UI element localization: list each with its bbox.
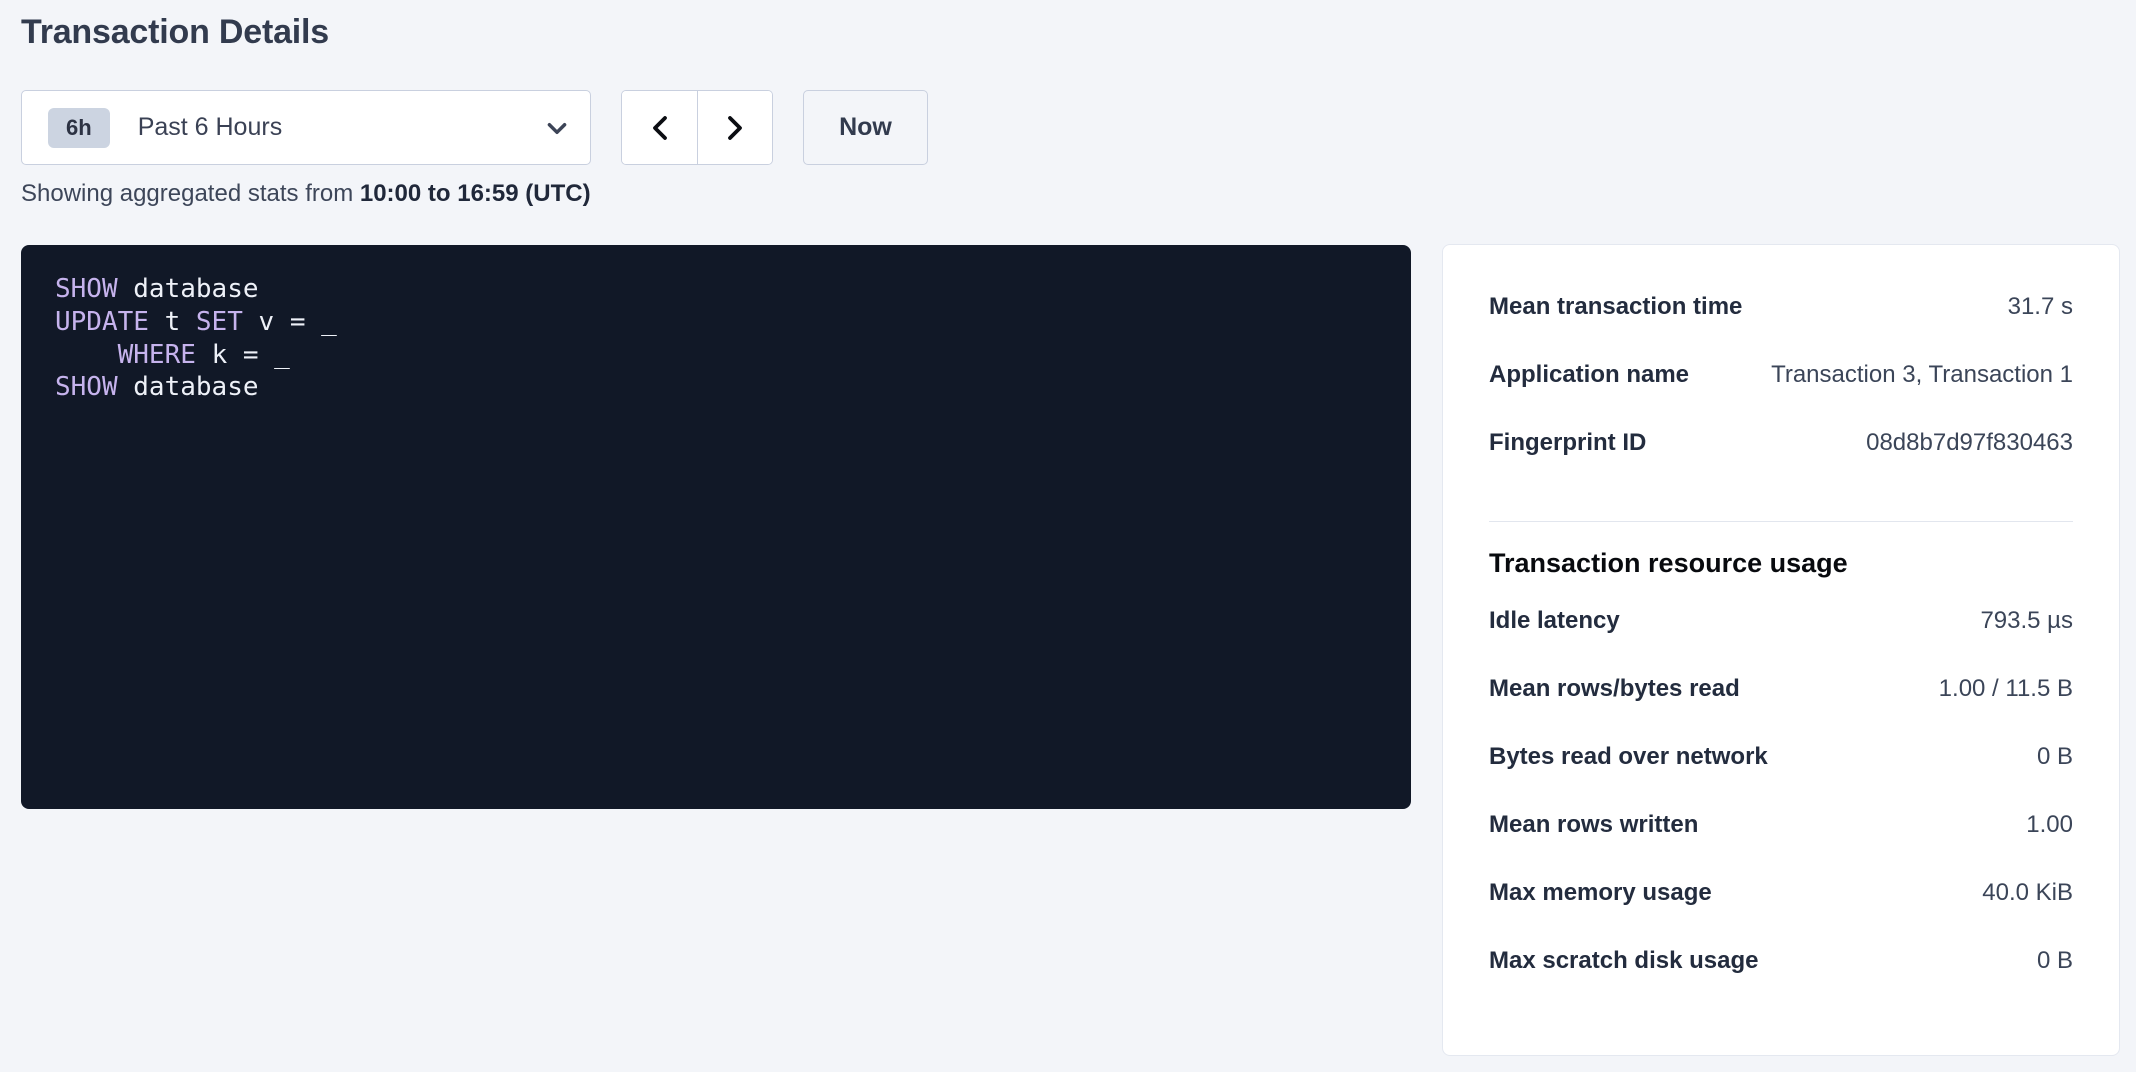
time-range-label: Past 6 Hours	[138, 113, 544, 142]
stat-row: Idle latency793.5 µs	[1489, 607, 2073, 675]
stat-label: Bytes read over network	[1489, 743, 1768, 771]
stat-row: Mean rows/bytes read1.00 / 11.5 B	[1489, 675, 2073, 743]
sql-token	[118, 372, 134, 402]
stat-value: 40.0 KiB	[1982, 879, 2073, 907]
stat-label: Application name	[1489, 361, 1689, 389]
sql-token	[149, 307, 165, 337]
sql-token	[55, 340, 118, 370]
stat-value: 793.5 µs	[1980, 607, 2073, 635]
stat-label: Idle latency	[1489, 607, 1620, 635]
time-nav-group	[621, 90, 773, 165]
sql-token	[118, 274, 134, 304]
sql-token: = _	[227, 340, 290, 370]
stat-value: 1.00	[2026, 811, 2073, 839]
time-range-toolbar: 6h Past 6 Hours	[21, 90, 928, 165]
stat-row: Application nameTransaction 3, Transacti…	[1489, 361, 2073, 429]
sql-token: SHOW	[55, 274, 118, 304]
resource-stats-list: Idle latency793.5 µsMean rows/bytes read…	[1489, 607, 2073, 1015]
now-button[interactable]: Now	[803, 90, 928, 165]
sql-token: SHOW	[55, 372, 118, 402]
chevron-down-icon	[544, 115, 570, 141]
stat-row: Fingerprint ID08d8b7d97f830463	[1489, 429, 2073, 497]
stat-row: Max scratch disk usage0 B	[1489, 947, 2073, 1015]
time-range-select[interactable]: 6h Past 6 Hours	[21, 90, 591, 165]
sql-statement-panel: SHOW database UPDATE t SET v = _ WHERE k…	[21, 245, 1411, 809]
sql-token: database	[133, 274, 258, 304]
sql-token	[196, 340, 212, 370]
chevron-left-icon	[645, 113, 675, 143]
aggregation-range-prefix: Showing aggregated stats from	[21, 180, 360, 207]
sql-token: t	[165, 307, 181, 337]
time-range-badge: 6h	[48, 108, 110, 148]
stat-value: 1.00 / 11.5 B	[1939, 675, 2073, 703]
stat-row: Mean rows written1.00	[1489, 811, 2073, 879]
chevron-right-icon	[720, 113, 750, 143]
sql-token: database	[133, 372, 258, 402]
aggregation-range-text: Showing aggregated stats from 10:00 to 1…	[21, 180, 591, 208]
stat-label: Mean rows/bytes read	[1489, 675, 1740, 703]
summary-stats-list: Mean transaction time31.7 sApplication n…	[1489, 293, 2073, 497]
sql-token	[243, 307, 259, 337]
sql-token: v	[259, 307, 275, 337]
sql-token: SET	[196, 307, 243, 337]
sql-token	[180, 307, 196, 337]
sql-token: = _	[274, 307, 337, 337]
next-period-button[interactable]	[697, 91, 772, 164]
stat-label: Fingerprint ID	[1489, 429, 1646, 457]
sql-token: WHERE	[118, 340, 196, 370]
stat-label: Mean transaction time	[1489, 293, 1742, 321]
transaction-stats-card: Mean transaction time31.7 sApplication n…	[1442, 244, 2120, 1056]
aggregation-range-value: 10:00 to 16:59 (UTC)	[360, 180, 591, 207]
stat-value: 31.7 s	[2008, 293, 2073, 321]
stat-value: 08d8b7d97f830463	[1866, 429, 2073, 457]
stat-value: 0 B	[2037, 743, 2073, 771]
sql-token: k	[212, 340, 228, 370]
card-divider	[1489, 521, 2073, 522]
stat-value: Transaction 3, Transaction 1	[1771, 361, 2073, 389]
transaction-details-page: Transaction Details 6h Past 6 Hours	[0, 0, 2136, 1072]
sql-statement-code: SHOW database UPDATE t SET v = _ WHERE k…	[55, 273, 1377, 404]
stat-row: Max memory usage40.0 KiB	[1489, 879, 2073, 947]
stat-label: Max memory usage	[1489, 879, 1712, 907]
stat-row: Bytes read over network0 B	[1489, 743, 2073, 811]
resource-usage-heading: Transaction resource usage	[1489, 548, 2073, 579]
sql-token: UPDATE	[55, 307, 149, 337]
previous-period-button[interactable]	[622, 91, 697, 164]
stat-label: Max scratch disk usage	[1489, 947, 1758, 975]
stat-label: Mean rows written	[1489, 811, 1698, 839]
page-title: Transaction Details	[21, 13, 329, 52]
stat-row: Mean transaction time31.7 s	[1489, 293, 2073, 361]
stat-value: 0 B	[2037, 947, 2073, 975]
